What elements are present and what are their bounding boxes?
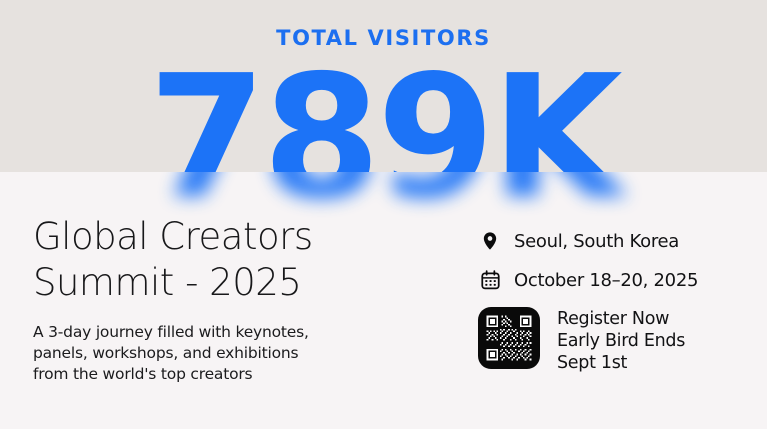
event-title-line-2: Summit - 2025	[33, 261, 301, 304]
event-info-column: Global Creators Summit - 2025 A 3-day jo…	[33, 214, 448, 385]
registration-cta[interactable]: Register Now Early Bird Ends Sept 1st	[478, 307, 758, 374]
event-title-line-1: Global Creators	[33, 215, 313, 258]
qr-code-icon[interactable]	[478, 307, 540, 369]
cta-text-block: Register Now Early Bird Ends Sept 1st	[557, 307, 685, 374]
content-layer: Global Creators Summit - 2025 A 3-day jo…	[0, 0, 767, 429]
calendar-icon	[478, 267, 502, 293]
location-row: Seoul, South Korea	[478, 228, 758, 254]
cta-line-2: Early Bird Ends	[557, 330, 685, 352]
cta-line-1: Register Now	[557, 308, 685, 330]
page-title: Global Creators Summit - 2025	[33, 214, 448, 306]
event-description-line-2: panels, workshops, and exhibitions	[33, 344, 298, 362]
date-text: October 18–20, 2025	[514, 270, 698, 291]
event-details-column: Seoul, South Korea	[478, 228, 758, 374]
event-poster: 789K 789K TOTAL VISITORS Global Creators…	[0, 0, 767, 429]
date-row: October 18–20, 2025	[478, 267, 758, 293]
map-pin-icon	[478, 228, 502, 254]
cta-line-3: Sept 1st	[557, 352, 685, 374]
event-description: A 3-day journey filled with keynotes, pa…	[33, 322, 448, 385]
event-description-line-1: A 3-day journey filled with keynotes,	[33, 323, 309, 341]
location-text: Seoul, South Korea	[514, 231, 679, 252]
event-description-line-3: from the world's top creators	[33, 365, 252, 383]
